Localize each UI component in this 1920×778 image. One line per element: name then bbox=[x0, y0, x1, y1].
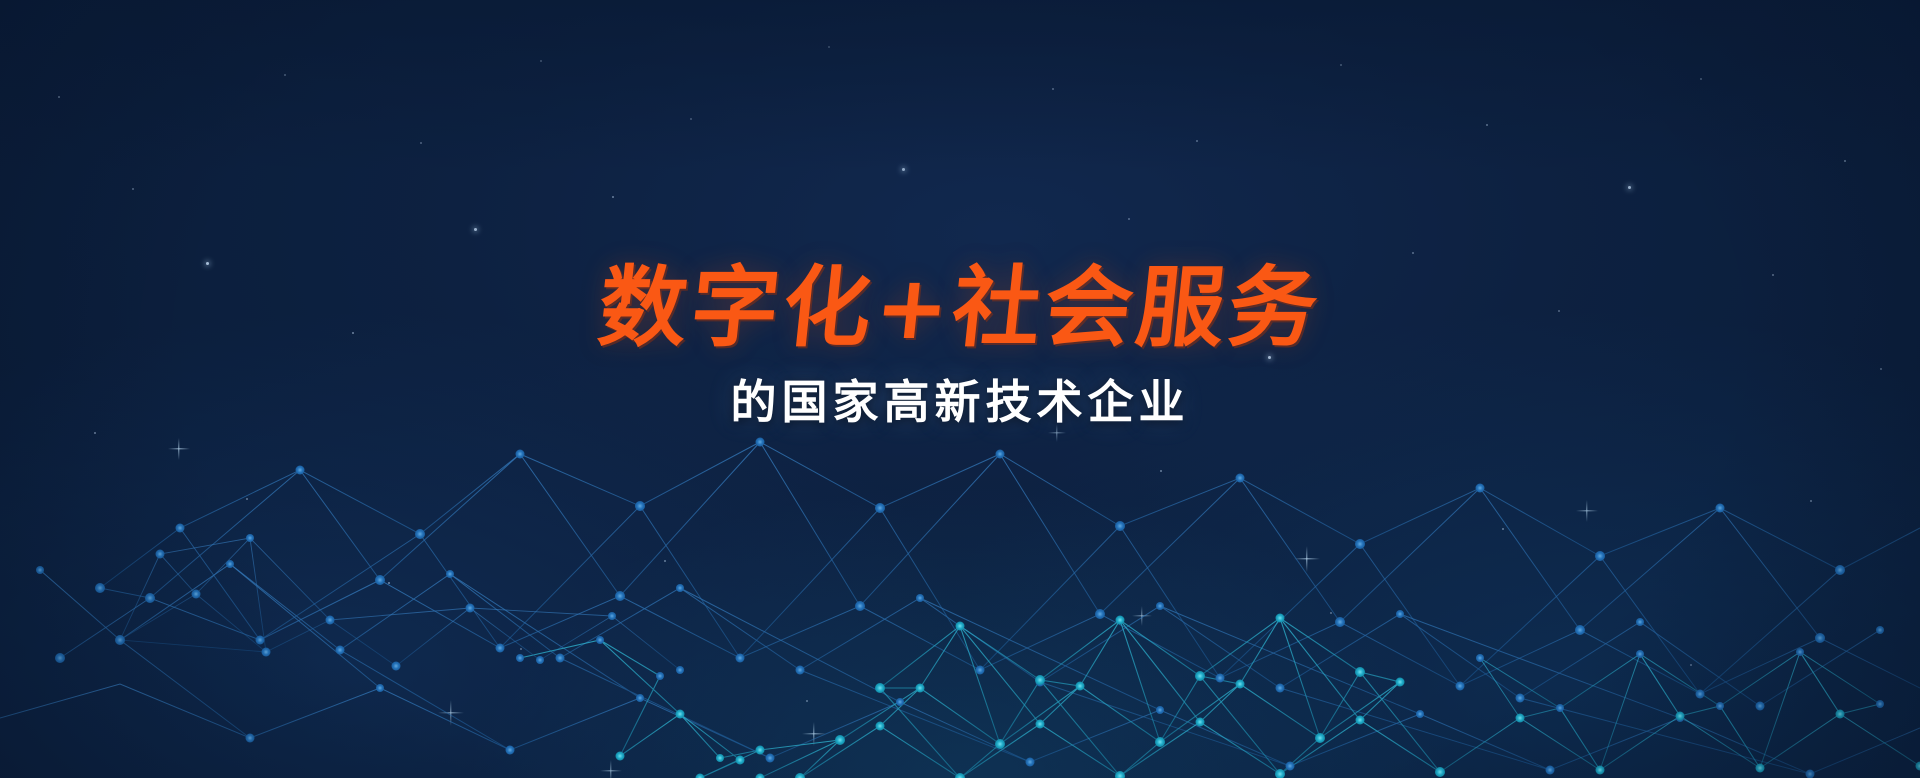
star bbox=[1052, 88, 1054, 90]
sparkle-star bbox=[438, 700, 464, 726]
star bbox=[58, 96, 60, 98]
star bbox=[284, 74, 286, 76]
sparkle-star bbox=[1294, 546, 1320, 572]
star bbox=[806, 700, 808, 702]
sparkle-star bbox=[600, 760, 622, 778]
star bbox=[1128, 218, 1130, 220]
star bbox=[420, 142, 422, 144]
star bbox=[1412, 252, 1414, 254]
star bbox=[1700, 78, 1702, 80]
star bbox=[1330, 612, 1332, 614]
star bbox=[540, 60, 542, 62]
star bbox=[520, 648, 522, 650]
star bbox=[1340, 64, 1342, 66]
star bbox=[474, 228, 477, 231]
star bbox=[612, 196, 614, 198]
star bbox=[1844, 160, 1846, 162]
star bbox=[828, 46, 830, 48]
sparkle-star bbox=[1132, 606, 1152, 626]
sparkle-star bbox=[1576, 500, 1598, 522]
sparkle-star bbox=[802, 722, 826, 746]
star bbox=[690, 118, 692, 120]
star bbox=[1502, 528, 1504, 530]
star bbox=[664, 560, 666, 562]
star bbox=[1196, 140, 1198, 142]
star bbox=[94, 432, 96, 434]
star bbox=[1628, 186, 1631, 189]
page-subtitle: 的国家高新技术企业 bbox=[0, 376, 1920, 429]
star bbox=[1486, 124, 1488, 126]
star bbox=[246, 498, 248, 500]
hero-banner: 数字化+社会服务 的国家高新技术企业 bbox=[0, 0, 1920, 778]
hero-text-block: 数字化+社会服务 的国家高新技术企业 bbox=[0, 262, 1920, 428]
star bbox=[1810, 500, 1812, 502]
star bbox=[1160, 470, 1162, 472]
page-title: 数字化+社会服务 bbox=[0, 262, 1920, 354]
star bbox=[1690, 664, 1692, 666]
sparkle-star bbox=[168, 438, 190, 460]
star bbox=[132, 188, 134, 190]
star bbox=[388, 582, 390, 584]
star bbox=[902, 168, 905, 171]
